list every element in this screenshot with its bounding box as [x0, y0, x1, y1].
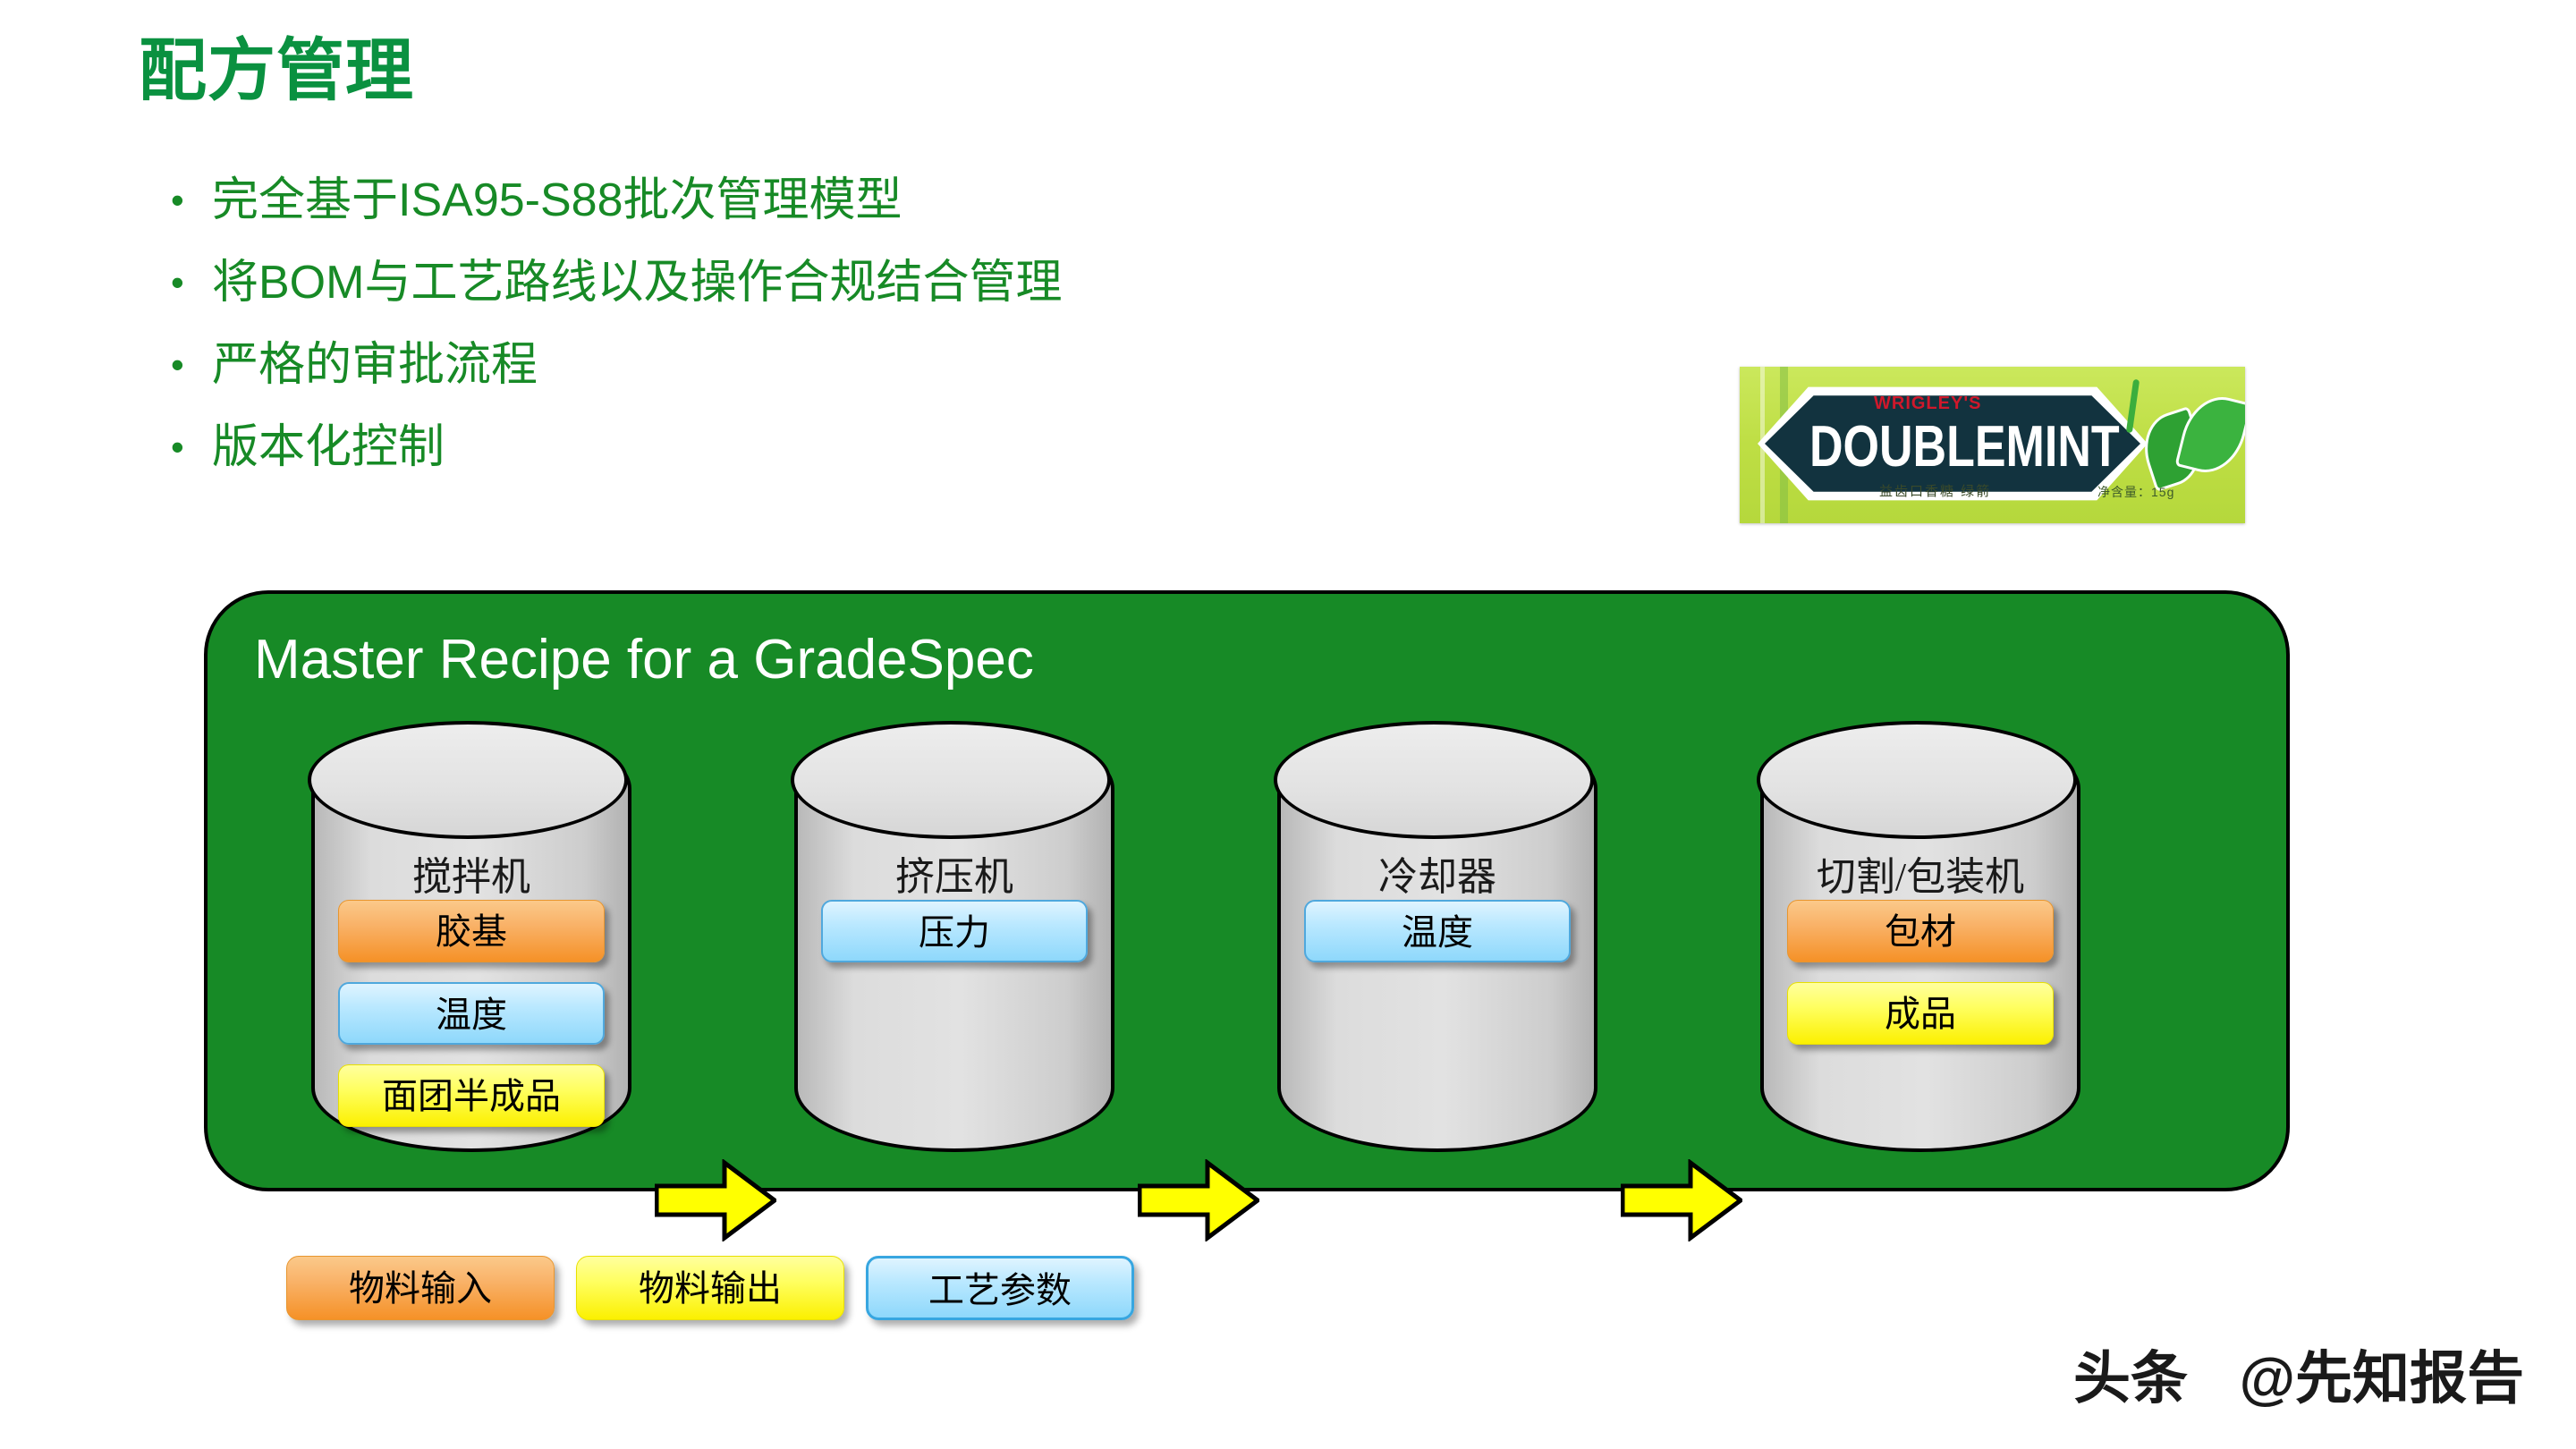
- bullet-dot-icon: •: [157, 330, 212, 400]
- bullet-dot-icon: •: [157, 248, 212, 318]
- doublemint-gum-pack-image: WRIGLEY'S DOUBLEMINT 益齿口香糖 绿箭 净含量：15g: [1740, 367, 2245, 523]
- bullet-dot-icon: •: [157, 412, 212, 482]
- recipe-chip-material-output[interactable]: 成品: [1787, 982, 2054, 1045]
- recipe-chip-process-param[interactable]: 温度: [1304, 900, 1571, 962]
- cylinder-top-ellipse: [308, 721, 628, 839]
- bullet-text: 版本化控制: [212, 412, 445, 482]
- pack-weight-text: 净含量：15g: [2097, 483, 2174, 501]
- cylinder-top-ellipse: [791, 721, 1111, 839]
- process-unit-mixer[interactable]: 搅拌机 胶基 温度 面团半成品: [311, 724, 631, 1152]
- chip-stack: 压力: [821, 900, 1088, 982]
- recipe-chip-process-param[interactable]: 压力: [821, 900, 1088, 962]
- bullet-text: 将BOM与工艺路线以及操作合规结合管理: [212, 248, 1062, 318]
- bullet-list: • 完全基于ISA95-S88批次管理模型 • 将BOM与工艺路线以及操作合规结…: [157, 165, 1677, 495]
- watermark-prefix: 头条: [2073, 1346, 2188, 1411]
- watermark: 头条 @先知报告: [2073, 1333, 2524, 1415]
- process-unit-label: 挤压机: [794, 844, 1114, 902]
- flow-arrow-right-icon: [655, 1159, 776, 1241]
- process-unit-cooler[interactable]: 冷却器 温度: [1277, 724, 1597, 1152]
- bullet-dot-icon: •: [157, 165, 212, 235]
- bullet-text: 严格的审批流程: [212, 330, 538, 400]
- recipe-chip-material-output[interactable]: 面团半成品: [338, 1064, 605, 1127]
- pack-product-text: DOUBLEMINT: [1809, 413, 2120, 480]
- list-item: • 将BOM与工艺路线以及操作合规结合管理: [157, 248, 1677, 330]
- recipe-panel-title: Master Recipe for a GradeSpec: [254, 628, 1034, 691]
- legend-item-material-output[interactable]: 物料输出: [576, 1256, 844, 1320]
- page-title: 配方管理: [139, 38, 414, 106]
- legend-item-material-input[interactable]: 物料输入: [286, 1256, 555, 1320]
- recipe-chip-material-input[interactable]: 胶基: [338, 900, 605, 962]
- process-unit-extruder[interactable]: 挤压机 压力: [794, 724, 1114, 1152]
- cylinder-top-ellipse: [1757, 721, 2077, 839]
- chip-stack: 胶基 温度 面团半成品: [338, 900, 605, 1147]
- bullet-text: 完全基于ISA95-S88批次管理模型: [212, 165, 902, 235]
- legend-item-process-param[interactable]: 工艺参数: [866, 1256, 1134, 1320]
- list-item: • 严格的审批流程: [157, 330, 1677, 412]
- mint-leaf-icon: [2174, 389, 2245, 480]
- flow-arrow-right-icon: [1138, 1159, 1259, 1241]
- process-unit-cutter-packer[interactable]: 切割/包装机 包材 成品: [1760, 724, 2080, 1152]
- list-item: • 版本化控制: [157, 412, 1677, 495]
- process-flow-row: 搅拌机 胶基 温度 面团半成品 挤压机 压力: [208, 724, 2286, 1172]
- recipe-chip-material-input[interactable]: 包材: [1787, 900, 2054, 962]
- master-recipe-panel: Master Recipe for a GradeSpec 搅拌机 胶基 温度 …: [204, 590, 2290, 1191]
- watermark-handle: @先知报告: [2240, 1346, 2524, 1411]
- flow-arrow-right-icon: [1621, 1159, 1742, 1241]
- process-unit-label: 切割/包装机: [1760, 844, 2080, 902]
- legend: 物料输入 物料输出 工艺参数: [286, 1256, 1134, 1320]
- slide-canvas: 配方管理 • 完全基于ISA95-S88批次管理模型 • 将BOM与工艺路线以及…: [0, 0, 2576, 1449]
- recipe-chip-process-param[interactable]: 温度: [338, 982, 605, 1045]
- pack-brand-text: WRIGLEY'S: [1874, 394, 1981, 414]
- process-unit-label: 搅拌机: [311, 844, 631, 902]
- chip-stack: 包材 成品: [1787, 900, 2054, 1064]
- list-item: • 完全基于ISA95-S88批次管理模型: [157, 165, 1677, 248]
- mint-stem-decoration: [2126, 379, 2140, 433]
- process-unit-label: 冷却器: [1277, 844, 1597, 902]
- chip-stack: 温度: [1304, 900, 1571, 982]
- cylinder-top-ellipse: [1274, 721, 1594, 839]
- pack-subtitle-text: 益齿口香糖 绿箭: [1879, 481, 1991, 500]
